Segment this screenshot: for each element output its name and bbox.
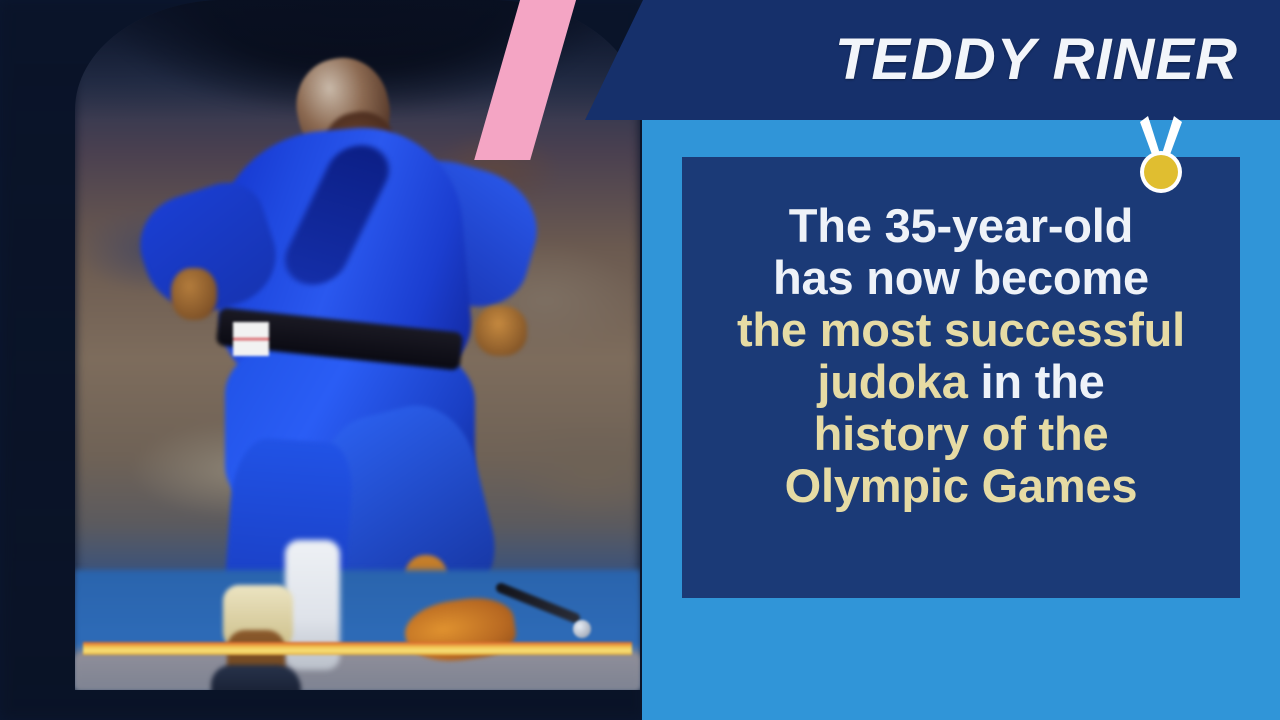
microphone-head xyxy=(573,620,591,638)
caption-line-4-white: in the xyxy=(968,355,1105,408)
mat-edge-highlight xyxy=(83,642,632,655)
judoka-right-foot xyxy=(401,593,518,668)
caption-text: The 35-year-old has now become the most … xyxy=(682,200,1240,512)
judoka-left-foot xyxy=(211,665,301,690)
caption-line-2: has now become xyxy=(682,252,1240,304)
caption-line-6: Olympic Games xyxy=(682,460,1240,512)
photo-panel xyxy=(0,0,645,720)
gold-medal-icon xyxy=(1128,114,1192,200)
page-title: TEDDY RINER xyxy=(835,26,1238,93)
caption-line-4: judoka in the xyxy=(682,356,1240,408)
caption-line-4-gold: judoka xyxy=(817,355,967,408)
caption-line-1: The 35-year-old xyxy=(682,200,1240,252)
athlete-photo xyxy=(75,0,640,690)
caption-line-3: the most successful xyxy=(682,304,1240,356)
judoka-lower-figure xyxy=(75,0,640,690)
graphic-card: TEDDY RINER The 35-year-old has now beco… xyxy=(0,0,1280,720)
caption-line-5: history of the xyxy=(682,408,1240,460)
